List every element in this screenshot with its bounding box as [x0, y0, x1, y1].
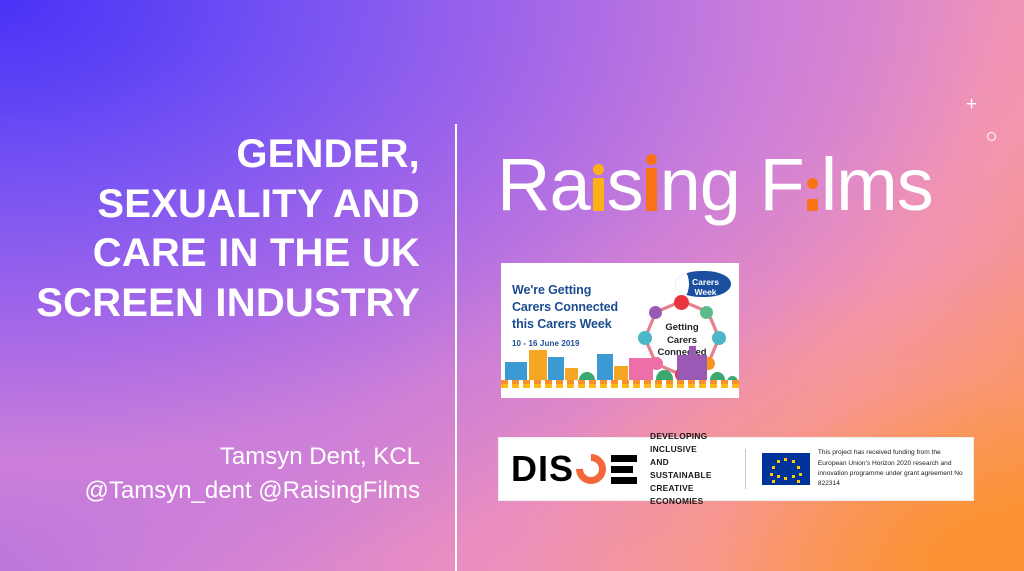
road-line-secondary — [501, 384, 739, 388]
disce-letter-e-bars-icon — [611, 455, 637, 484]
tagline-line-3: AND SUSTAINABLE — [650, 456, 723, 482]
tagline-line-4: CREATIVE ECONOMIES — [650, 482, 723, 508]
disce-letter-s: S — [549, 451, 572, 487]
eu-flag-icon — [762, 453, 810, 485]
disce-letter-i: I — [538, 451, 547, 487]
carers-heading-line-2: Carers Connected — [512, 299, 618, 316]
eu-funding-block: This project has received funding from t… — [762, 448, 967, 490]
circle-decoration-icon — [987, 132, 996, 141]
page-title: GENDER, SEXUALITY AND CARE IN THE UK SCR… — [20, 130, 420, 328]
title-block: GENDER, SEXUALITY AND CARE IN THE UK SCR… — [20, 130, 420, 328]
plus-decoration-icon: + — [966, 95, 977, 114]
eu-funding-text: This project has received funding from t… — [818, 448, 967, 490]
wordmark-part-lms: lms — [821, 148, 933, 222]
wordmark-part-s: s — [607, 148, 643, 222]
vertical-divider — [455, 124, 457, 571]
disce-logo: D I S DEVELOPING INCLUSIVE AND SUSTAINAB… — [505, 430, 723, 508]
social-handles: @Tamsyn_dent @RaisingFilms — [0, 474, 420, 508]
presentation-slide: + GENDER, SEXUALITY AND CARE IN THE UK S… — [0, 0, 1024, 571]
disce-tagline: DEVELOPING INCLUSIVE AND SUSTAINABLE CRE… — [650, 430, 723, 508]
tagline-line-2: INCLUSIVE — [650, 443, 723, 456]
disce-funding-banner: D I S DEVELOPING INCLUSIVE AND SUSTAINAB… — [498, 437, 974, 501]
carers-week-badge: Carers Week — [675, 271, 731, 297]
wordmark-dotted-i-3 — [804, 148, 821, 222]
disce-letter-c-arc-icon — [570, 448, 612, 490]
divider-line — [745, 449, 746, 489]
carers-week-badge-label: Carers Week — [675, 277, 731, 297]
byline-block: Tamsyn Dent, KCL @Tamsyn_dent @RaisingFi… — [0, 440, 420, 508]
wordmark-dotted-i-2 — [643, 148, 660, 222]
carers-week-banner: We're Getting Carers Connected this Care… — [501, 263, 739, 398]
carers-heading-line-1: We're Getting — [512, 282, 618, 299]
raising-films-logo: Ra s ng F lms — [497, 148, 933, 222]
wordmark-part-ng-f: ng F — [660, 148, 804, 222]
disce-logomark: D I S — [511, 452, 637, 486]
carers-heading-line-3: this Carers Week — [512, 316, 618, 333]
disce-letter-d: D — [511, 451, 536, 487]
author-name: Tamsyn Dent, KCL — [0, 440, 420, 474]
ring-line-1: Getting — [634, 322, 730, 335]
carers-week-heading: We're Getting Carers Connected this Care… — [512, 282, 618, 333]
tagline-line-1: DEVELOPING — [650, 430, 723, 443]
cityscape-illustration — [501, 340, 739, 388]
wordmark-part-ra: Ra — [497, 148, 590, 222]
wordmark-dotted-i-1 — [590, 148, 607, 222]
